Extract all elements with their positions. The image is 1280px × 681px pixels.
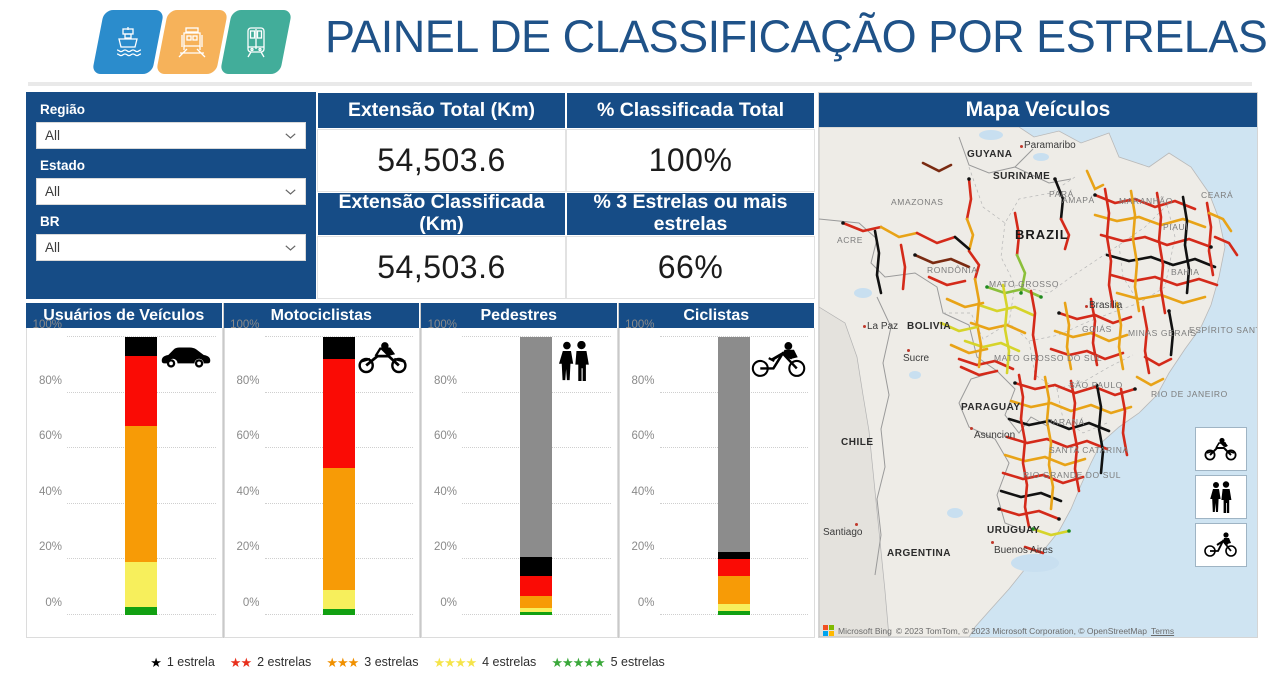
y-axis-tick: 80% — [236, 375, 259, 387]
filter-value-estado: All — [45, 184, 60, 199]
chart-plot-area: 0%20%40%60%80%100% — [660, 337, 809, 615]
kpi-label-extensao-classificada: Extensão Classificada (Km) — [317, 192, 566, 236]
y-axis-tick: 0% — [243, 597, 260, 609]
chevron-down-icon — [285, 189, 296, 195]
city-dot-buenosaires — [991, 541, 994, 544]
city-dot-lapaz — [863, 325, 866, 328]
chart-body: 0%20%40%60%80%100% — [421, 328, 618, 638]
map-toggle-pedestrians[interactable] — [1195, 475, 1247, 519]
filter-label-regiao: Região — [40, 102, 306, 117]
bar-segment[interactable] — [718, 559, 750, 576]
cyclist-icon — [750, 341, 806, 381]
y-axis-tick: 40% — [434, 486, 457, 498]
legend-label: 2 estrelas — [257, 655, 311, 669]
y-axis-tick: 20% — [39, 541, 62, 553]
bar-segment[interactable] — [323, 337, 355, 359]
chart-panel-motociclistas: Motociclistas0%20%40%60%80%100% — [224, 303, 422, 638]
chevron-down-icon — [285, 245, 296, 251]
city-dot-sucre — [907, 349, 910, 352]
city-dot-santiago — [855, 523, 858, 526]
map-canvas[interactable]: GUYANAParamariboSURINAMEAMAPÁAMAZONASPAR… — [819, 127, 1257, 637]
filter-value-br: All — [45, 240, 60, 255]
y-axis-tick: 100% — [625, 319, 654, 331]
map-attribution-terms[interactable]: Terms — [1151, 626, 1174, 636]
kpi-value-extensao-classificada: 54,503.6 — [317, 236, 566, 299]
bar-segment[interactable] — [323, 609, 355, 615]
map-toggle-cyclists[interactable] — [1195, 523, 1247, 567]
cyclist-icon — [1204, 532, 1238, 558]
bar-segment[interactable] — [125, 426, 157, 562]
kpi-grid: Extensão Total (Km) % Classificada Total… — [317, 92, 815, 299]
y-axis-tick: 60% — [236, 430, 259, 442]
rail-icon — [156, 10, 228, 74]
map-panel: Mapa Veículos — [818, 92, 1258, 638]
chart-body: 0%20%40%60%80%100% — [26, 328, 223, 638]
bar-segment[interactable] — [125, 562, 157, 606]
filter-select-regiao[interactable]: All — [36, 122, 306, 149]
kpi-label-pct-3-estrelas: % 3 Estrelas ou mais estrelas — [566, 192, 815, 236]
stacked-bar[interactable] — [125, 337, 157, 615]
filter-regiao: Região All — [36, 102, 306, 149]
map-title: Mapa Veículos — [819, 93, 1257, 127]
star-icon: ★★★ — [326, 656, 358, 669]
legend-label: 3 estrelas — [364, 655, 418, 669]
y-axis-tick: 40% — [236, 486, 259, 498]
metro-icon — [220, 10, 292, 74]
chart-panel-pedestres: Pedestres0%20%40%60%80%100% — [421, 303, 619, 638]
dashboard-root: PAINEL DE CLASSIFICAÇÃO POR ESTRELAS Reg… — [0, 0, 1280, 681]
bar-segment[interactable] — [718, 576, 750, 604]
y-axis-tick: 80% — [39, 375, 62, 387]
legend-label: 4 estrelas — [482, 655, 536, 669]
star-icon: ★★★★ — [433, 656, 476, 669]
microsoft-logo-icon — [823, 625, 834, 636]
bar-segment[interactable] — [323, 468, 355, 590]
chart-body: 0%20%40%60%80%100% — [224, 328, 421, 638]
city-dot-paramaribo — [1020, 145, 1023, 148]
stacked-bar[interactable] — [718, 337, 750, 615]
filter-panel: Região All Estado All BR All — [26, 92, 316, 299]
legend-label: 5 estrelas — [611, 655, 665, 669]
y-axis-tick: 100% — [230, 319, 259, 331]
bar-segment[interactable] — [323, 359, 355, 467]
bar-segment[interactable] — [520, 612, 552, 615]
y-axis-tick: 60% — [631, 430, 654, 442]
motorcycle-icon — [1204, 437, 1238, 461]
bar-segment[interactable] — [323, 590, 355, 609]
y-axis-tick: 40% — [631, 486, 654, 498]
filter-label-br: BR — [40, 214, 306, 229]
kpi-value-pct-classificada-total: 100% — [566, 129, 815, 192]
ship-icon — [92, 10, 164, 74]
header-divider — [28, 82, 1252, 86]
y-axis-tick: 20% — [631, 541, 654, 553]
stacked-bar[interactable] — [520, 337, 552, 615]
star-legend: ★1 estrela★★2 estrelas★★★3 estrelas★★★★4… — [0, 645, 815, 679]
chart-body: 0%20%40%60%80%100% — [619, 328, 816, 638]
car-icon — [158, 341, 214, 381]
chart-plot-area: 0%20%40%60%80%100% — [265, 337, 414, 615]
bar-segment[interactable] — [125, 337, 157, 356]
star-icon: ★★ — [230, 656, 251, 669]
legend-item[interactable]: ★★★3 estrelas — [326, 655, 418, 669]
city-dot-asuncion — [970, 427, 973, 430]
kpi-value-extensao-total: 54,503.6 — [317, 129, 566, 192]
city-dot-brasilia — [1085, 305, 1088, 308]
bar-segment[interactable] — [520, 557, 552, 576]
pedestrian-icon — [553, 341, 609, 381]
y-axis-tick: 20% — [434, 541, 457, 553]
y-axis-tick: 40% — [39, 486, 62, 498]
y-axis-tick: 100% — [428, 319, 457, 331]
map-attribution: Microsoft Bing © 2023 TomTom, © 2023 Mic… — [823, 625, 1253, 636]
bar-segment[interactable] — [520, 608, 552, 612]
y-axis-tick: 80% — [631, 375, 654, 387]
filter-select-br[interactable]: All — [36, 234, 306, 261]
chart-plot-area: 0%20%40%60%80%100% — [462, 337, 611, 615]
page-title: PAINEL DE CLASSIFICAÇÃO POR ESTRELAS — [325, 11, 1267, 63]
motorcycle-icon — [355, 341, 411, 381]
stacked-bar[interactable] — [323, 337, 355, 615]
bar-segment[interactable] — [520, 576, 552, 595]
filter-select-estado[interactable]: All — [36, 178, 306, 205]
logo-group — [98, 10, 286, 74]
map-graphic — [819, 127, 1257, 637]
filter-estado: Estado All — [36, 158, 306, 205]
bar-segment[interactable] — [520, 596, 552, 609]
bar-segment[interactable] — [520, 337, 552, 557]
filter-label-estado: Estado — [40, 158, 306, 173]
kpi-value-pct-3-estrelas: 66% — [566, 236, 815, 299]
y-axis-tick: 60% — [39, 430, 62, 442]
bar-segment[interactable] — [718, 604, 750, 611]
y-axis-tick: 0% — [45, 597, 62, 609]
map-toggle-motorcyclists[interactable] — [1195, 427, 1247, 471]
y-axis-tick: 0% — [440, 597, 457, 609]
legend-label: 1 estrela — [167, 655, 215, 669]
legend-item[interactable]: ★★2 estrelas — [230, 655, 312, 669]
legend-item[interactable]: ★1 estrela — [150, 655, 215, 669]
chart-panel-ciclistas: Ciclistas0%20%40%60%80%100% — [619, 303, 816, 638]
pedestrian-icon — [1208, 481, 1234, 513]
bar-segment[interactable] — [718, 611, 750, 615]
map-attribution-brand: Microsoft Bing — [838, 626, 892, 636]
legend-item[interactable]: ★★★★★5 estrelas — [551, 655, 664, 669]
y-axis-tick: 0% — [638, 597, 655, 609]
y-axis-tick: 80% — [434, 375, 457, 387]
kpi-label-pct-classificada-total: % Classificada Total — [566, 92, 815, 129]
kpi-label-extensao-total: Extensão Total (Km) — [317, 92, 566, 129]
filter-br: BR All — [36, 214, 306, 261]
chart-panel-usu-rios-de-ve-culos: Usuários de Veículos0%20%40%60%80%100% — [26, 303, 224, 638]
bar-segment[interactable] — [718, 552, 750, 559]
y-axis-tick: 100% — [33, 319, 62, 331]
chart-plot-area: 0%20%40%60%80%100% — [67, 337, 216, 615]
y-axis-tick: 20% — [236, 541, 259, 553]
y-axis-tick: 60% — [434, 430, 457, 442]
bar-segment[interactable] — [718, 337, 750, 552]
legend-item[interactable]: ★★★★4 estrelas — [433, 655, 536, 669]
chevron-down-icon — [285, 133, 296, 139]
bar-segment[interactable] — [125, 607, 157, 615]
chart-row: Usuários de Veículos0%20%40%60%80%100%Mo… — [26, 303, 815, 638]
map-attribution-text: © 2023 TomTom, © 2023 Microsoft Corporat… — [896, 626, 1147, 636]
filter-value-regiao: All — [45, 128, 60, 143]
star-icon: ★ — [150, 656, 161, 669]
bar-segment[interactable] — [125, 356, 157, 426]
page-header: PAINEL DE CLASSIFICAÇÃO POR ESTRELAS — [0, 0, 1280, 84]
star-icon: ★★★★★ — [551, 656, 604, 669]
